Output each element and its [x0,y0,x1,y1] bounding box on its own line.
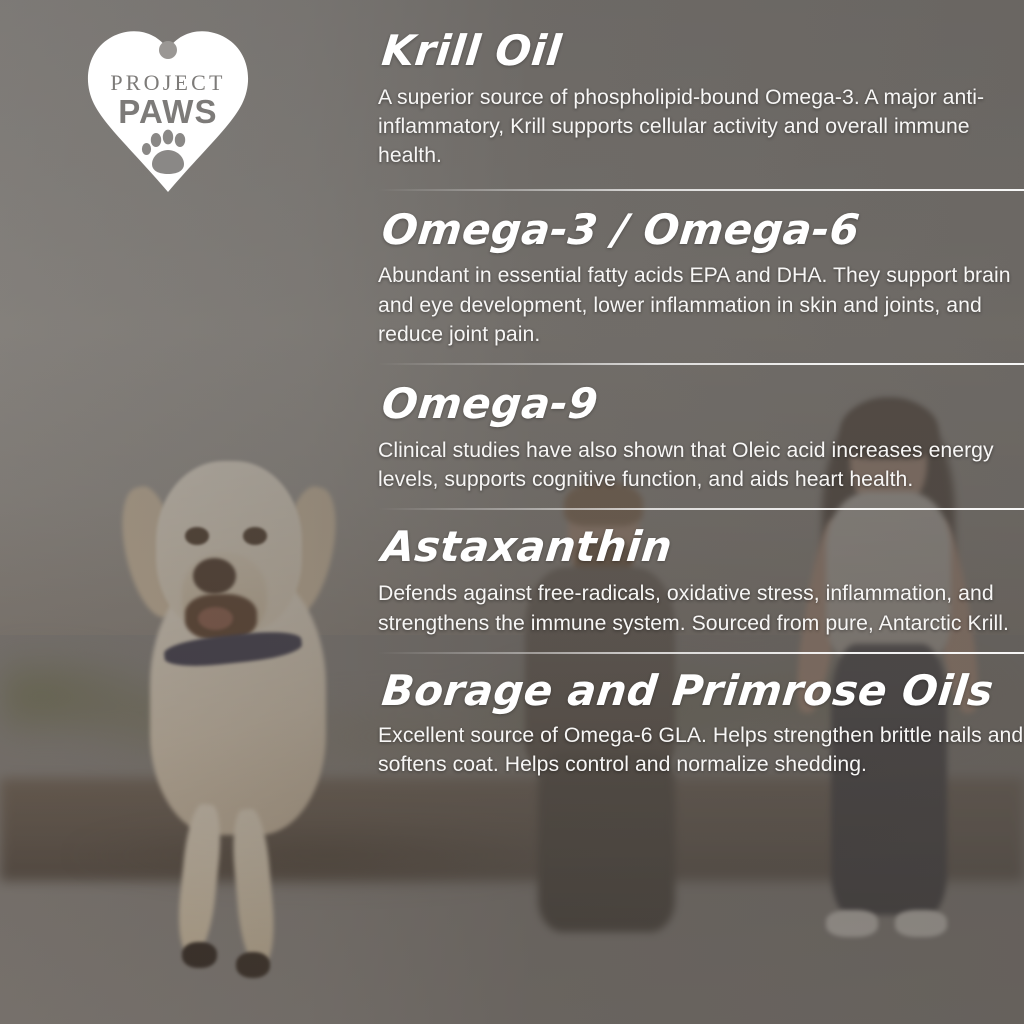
tag-hole-icon [159,41,177,59]
ingredient-section-omega-3-omega-6: Omega-3 / Omega-6 Abundant in essential … [378,191,1024,350]
heart-tag-icon: PROJECT PAWS [78,26,258,204]
section-heading: Omega-9 [380,383,1024,426]
ingredient-list: Krill Oil A superior source of phospholi… [378,22,1024,1022]
brand-logo: PROJECT PAWS [78,26,258,204]
section-body: A superior source of phospholipid-bound … [378,83,1024,171]
ingredient-section-borage-primrose-oils: Borage and Primrose Oils Excellent sourc… [378,654,1024,779]
section-body: Abundant in essential fatty acids EPA an… [378,261,1024,349]
logo-text-paws: PAWS [118,93,218,130]
ingredient-benefits-infographic: PROJECT PAWS Krill Oil A superior source… [0,0,1024,1024]
ingredient-section-astaxanthin: Astaxanthin Defends against free-radical… [378,510,1024,637]
logo-text-project: PROJECT [110,70,225,95]
section-heading: Borage and Primrose Oils [380,670,1024,713]
section-body: Clinical studies have also shown that Ol… [378,436,1024,495]
section-heading: Omega-3 / Omega-6 [380,209,1024,252]
section-body: Defends against free-radicals, oxidative… [378,579,1024,638]
section-heading: Astaxanthin [380,526,1024,569]
ingredient-section-omega-9: Omega-9 Clinical studies have also shown… [378,365,1024,494]
section-body: Excellent source of Omega-6 GLA. Helps s… [378,721,1024,780]
ingredient-section-krill-oil: Krill Oil A superior source of phospholi… [378,22,1024,171]
section-heading: Krill Oil [380,30,1024,73]
